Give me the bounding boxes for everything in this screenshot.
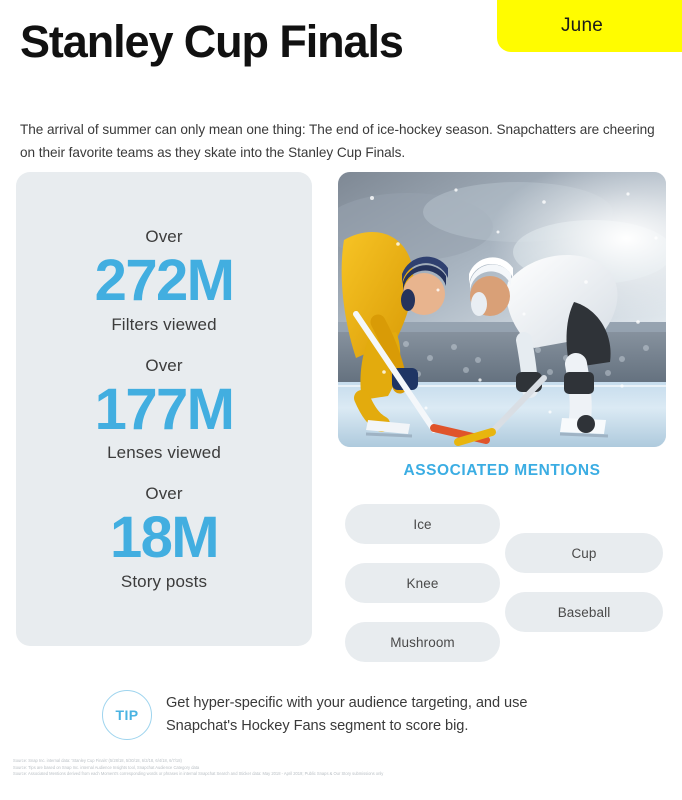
stat-value: 177M xyxy=(16,378,312,443)
mention-pill-label: Knee xyxy=(407,576,439,591)
mention-pill[interactable]: Mushroom xyxy=(345,622,500,662)
mention-pill-label: Mushroom xyxy=(390,635,455,650)
stat-value: 18M xyxy=(16,506,312,571)
mention-pill-label: Ice xyxy=(413,517,431,532)
page-title: Stanley Cup Finals xyxy=(20,17,403,67)
mention-pill[interactable]: Ice xyxy=(345,504,500,544)
hockey-photo-illustration xyxy=(338,172,666,447)
hockey-photo xyxy=(338,172,666,447)
stat-qualifier: Over xyxy=(16,226,312,249)
stat-value: 272M xyxy=(16,249,312,314)
footnote-line: Source: Snap Inc. internal data: 'Stanle… xyxy=(13,758,673,765)
mention-pill[interactable]: Knee xyxy=(345,563,500,603)
tip-text: Get hyper-specific with your audience ta… xyxy=(166,688,602,737)
stat-label: Filters viewed xyxy=(16,314,312,337)
footnote-line: Source: Associated Mentions derived from… xyxy=(13,771,673,778)
mention-pill[interactable]: Cup xyxy=(505,533,663,573)
mention-pill[interactable]: Baseball xyxy=(505,592,663,632)
month-badge-label: June xyxy=(561,15,603,37)
stats-panel: Over 272M Filters viewed Over 177M Lense… xyxy=(16,172,312,646)
footnotes: Source: Snap Inc. internal data: 'Stanle… xyxy=(13,758,673,778)
stat-qualifier: Over xyxy=(16,355,312,378)
tip-section: TIP Get hyper-specific with your audienc… xyxy=(102,688,602,740)
footnote-line: Source: Tips are based on Snap Inc. inte… xyxy=(13,765,673,772)
stat-card: Over 177M Lenses viewed xyxy=(16,346,312,475)
tip-badge: TIP xyxy=(102,690,152,740)
stat-card: Over 272M Filters viewed xyxy=(16,217,312,346)
intro-paragraph: The arrival of summer can only mean one … xyxy=(20,118,665,165)
stat-label: Story posts xyxy=(16,571,312,594)
stat-qualifier: Over xyxy=(16,483,312,506)
mention-pill-label: Baseball xyxy=(558,605,611,620)
stat-card: Over 18M Story posts xyxy=(16,474,312,603)
mention-pill-label: Cup xyxy=(571,546,596,561)
stat-label: Lenses viewed xyxy=(16,442,312,465)
associated-mentions-heading: ASSOCIATED MENTIONS xyxy=(338,462,666,480)
month-badge: June xyxy=(497,0,682,52)
